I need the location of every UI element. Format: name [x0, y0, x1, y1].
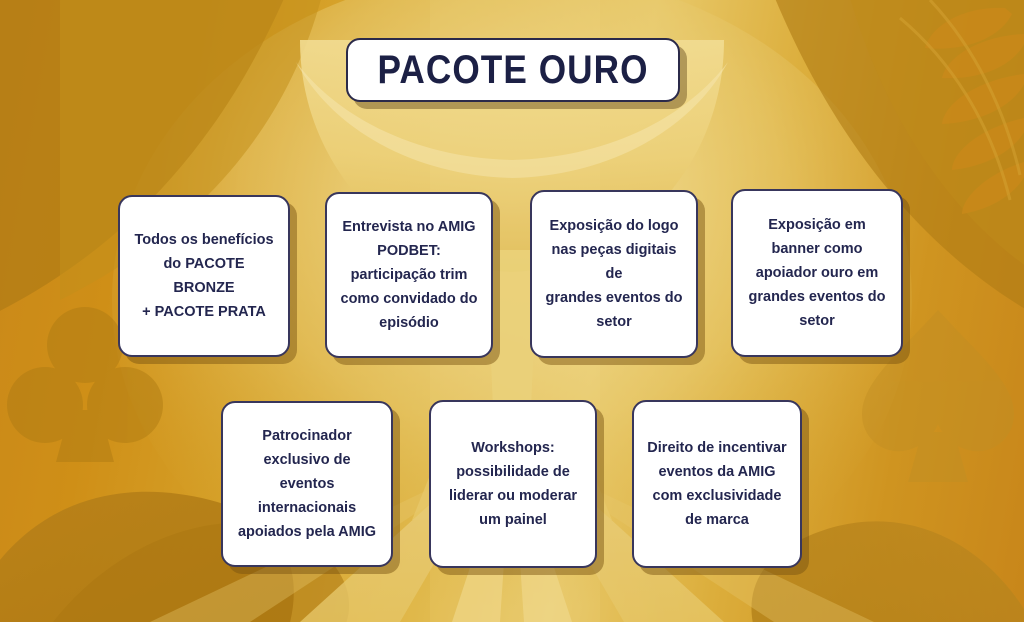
- benefit-card[interactable]: Patrocinador exclusivo de eventos intern…: [221, 401, 393, 567]
- benefit-card[interactable]: Entrevista no AMIG PODBET: participação …: [325, 192, 493, 358]
- card-text: Patrocinador exclusivo de eventos intern…: [235, 424, 379, 544]
- title-text: PACOTE OURO: [377, 48, 648, 93]
- slide-title: PACOTE OURO: [346, 38, 680, 102]
- benefit-card[interactable]: Exposição em banner como apoiador ouro e…: [731, 189, 903, 357]
- card-text: Entrevista no AMIG PODBET: participação …: [341, 215, 478, 335]
- benefit-card[interactable]: Todos os benefícios do PACOTE BRONZE + P…: [118, 195, 290, 357]
- card-text: Todos os benefícios do PACOTE BRONZE + P…: [132, 228, 276, 324]
- card-body[interactable]: Exposição em banner como apoiador ouro e…: [731, 189, 903, 357]
- benefit-card[interactable]: Direito de incentivar eventos da AMIG co…: [632, 400, 802, 568]
- card-body[interactable]: Todos os benefícios do PACOTE BRONZE + P…: [118, 195, 290, 357]
- card-text: Workshops: possibilidade de liderar ou m…: [449, 436, 577, 532]
- card-body[interactable]: Exposição do logo nas peças digitais de …: [530, 190, 698, 358]
- slide-canvas: PACOTE OURO Todos os benefícios do PACOT…: [0, 0, 1024, 622]
- card-body[interactable]: Patrocinador exclusivo de eventos intern…: [221, 401, 393, 567]
- card-text: Direito de incentivar eventos da AMIG co…: [647, 436, 786, 532]
- title-box: PACOTE OURO: [346, 38, 680, 102]
- benefit-card[interactable]: Exposição do logo nas peças digitais de …: [530, 190, 698, 358]
- card-text: Exposição do logo nas peças digitais de …: [544, 214, 684, 334]
- card-body[interactable]: Workshops: possibilidade de liderar ou m…: [429, 400, 597, 568]
- card-body[interactable]: Entrevista no AMIG PODBET: participação …: [325, 192, 493, 358]
- card-body[interactable]: Direito de incentivar eventos da AMIG co…: [632, 400, 802, 568]
- card-text: Exposição em banner como apoiador ouro e…: [749, 213, 886, 333]
- benefit-card[interactable]: Workshops: possibilidade de liderar ou m…: [429, 400, 597, 568]
